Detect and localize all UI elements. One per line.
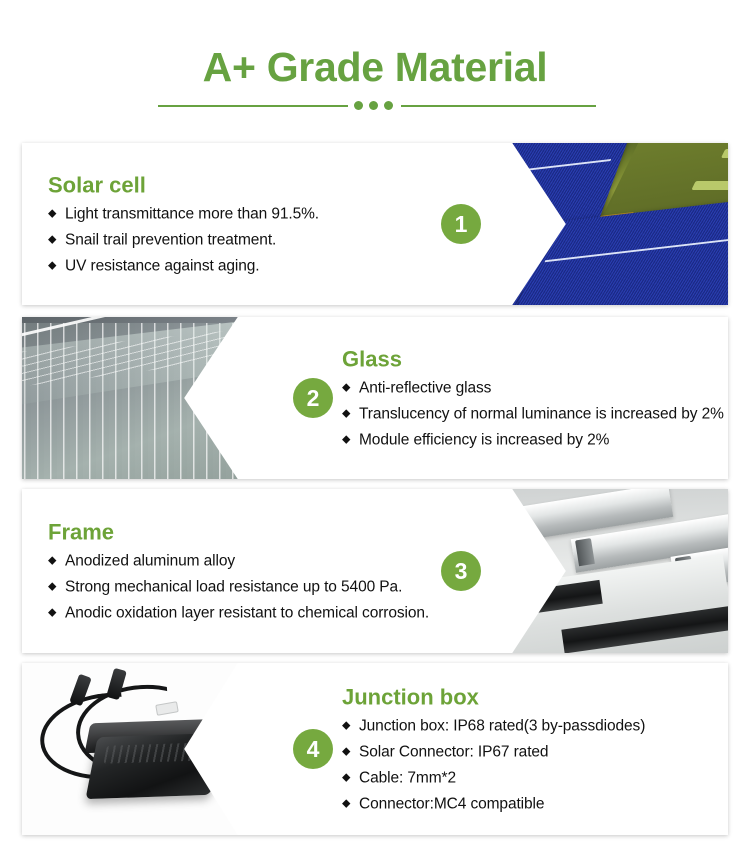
list-item: ◆ Anodic oxidation layer resistant to ch… [48,603,438,624]
glass-bullet-list: ◆ Anti-reflective glass ◆ Translucency o… [342,378,724,451]
list-item: ◆ Junction box: IP68 rated(3 by-passdiod… [342,716,724,737]
section-card-junction-box: 4 Junction box ◆ Junction box: IP68 rate… [22,663,728,835]
divider-dot-1 [354,101,363,110]
diamond-bullet-icon: ◆ [342,742,350,763]
infographic-page: A+ Grade Material 1 S [0,0,750,860]
solar-cell-bullet-list: ◆ Light transmittance more than 91.5%. ◆… [48,204,438,277]
section-title-frame: Frame [48,519,438,546]
solar-cell-text-block: Solar cell ◆ Light transmittance more th… [48,143,438,305]
divider-rule-right [401,105,596,107]
diamond-bullet-icon: ◆ [342,430,350,451]
diamond-bullet-icon: ◆ [48,603,56,624]
list-item: ◆ Anti-reflective glass [342,378,724,399]
diamond-bullet-icon: ◆ [48,577,56,598]
divider-rule-left [158,105,348,107]
diamond-bullet-icon: ◆ [342,716,350,737]
section-number-badge-2: 2 [293,378,333,418]
diamond-bullet-icon: ◆ [342,768,350,789]
diamond-bullet-icon: ◆ [48,204,56,225]
list-item: ◆ Snail trail prevention treatment. [48,230,438,251]
list-item-label: Anodized aluminum alloy [65,553,235,570]
list-item-label: Light transmittance more than 91.5%. [65,206,319,223]
list-item-label: Connector:MC4 compatible [359,796,544,813]
list-item-label: Solar Connector: IP67 rated [359,744,548,761]
section-card-frame: 3 Frame ◆ Anodized aluminum alloy ◆ Stro… [22,489,728,653]
page-title: A+ Grade Material [0,42,750,92]
section-number-badge-3: 3 [441,551,481,591]
frame-text-block: Frame ◆ Anodized aluminum alloy ◆ Strong… [48,489,438,653]
list-item: ◆ UV resistance against aging. [48,256,438,277]
diamond-bullet-icon: ◆ [342,794,350,815]
list-item-label: UV resistance against aging. [65,258,260,275]
list-item: ◆ Connector:MC4 compatible [342,794,724,815]
list-item: ◆ Light transmittance more than 91.5%. [48,204,438,225]
frame-bullet-list: ◆ Anodized aluminum alloy ◆ Strong mecha… [48,551,438,624]
list-item-label: Anodic oxidation layer resistant to chem… [65,605,429,622]
list-item: ◆ Strong mechanical load resistance up t… [48,577,438,598]
glass-text-block: Glass ◆ Anti-reflective glass ◆ Transluc… [342,317,724,479]
diamond-bullet-icon: ◆ [48,230,56,251]
list-item-label: Strong mechanical load resistance up to … [65,579,402,596]
list-item-label: Module efficiency is increased by 2% [359,432,609,449]
list-item: ◆ Solar Connector: IP67 rated [342,742,724,763]
section-card-glass: 2 Glass ◆ Anti-reflective glass ◆ Transl… [22,317,728,479]
list-item-label: Cable: 7mm*2 [359,770,456,787]
list-item-label: Snail trail prevention treatment. [65,232,276,249]
junction-box-bullet-list: ◆ Junction box: IP68 rated(3 by-passdiod… [342,716,724,815]
list-item: ◆ Translucency of normal luminance is in… [342,404,724,425]
cable-clip-shape [155,701,179,716]
list-item: ◆ Cable: 7mm*2 [342,768,724,789]
list-item-label: Anti-reflective glass [359,380,491,397]
section-card-solar-cell: 1 Solar cell ◆ Light transmittance more … [22,143,728,305]
page-header: A+ Grade Material [0,0,750,130]
section-number-badge-1: 1 [441,204,481,244]
section-number-badge-4: 4 [293,729,333,769]
diamond-bullet-icon: ◆ [48,256,56,277]
list-item-label: Translucency of normal luminance is incr… [359,406,724,423]
diamond-bullet-icon: ◆ [342,378,350,399]
section-title-solar-cell: Solar cell [48,172,438,199]
junction-box-text-block: Junction box ◆ Junction box: IP68 rated(… [342,663,724,835]
glass-photo [22,317,328,479]
list-item-label: Junction box: IP68 rated(3 by-passdiodes… [359,718,645,735]
divider-dot-2 [369,101,378,110]
list-item: ◆ Anodized aluminum alloy [48,551,438,572]
diamond-bullet-icon: ◆ [342,404,350,425]
section-title-junction-box: Junction box [342,684,724,711]
junction-box-photo [22,663,328,835]
title-divider [158,99,596,113]
diamond-bullet-icon: ◆ [48,551,56,572]
section-title-glass: Glass [342,346,724,373]
divider-dot-3 [384,101,393,110]
list-item: ◆ Module efficiency is increased by 2% [342,430,724,451]
